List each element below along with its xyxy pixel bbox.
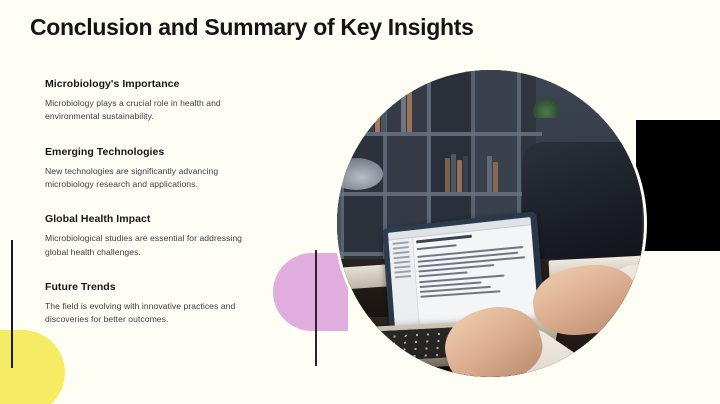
slide-canvas: Conclusion and Summary of Key Insights M…	[0, 0, 720, 404]
book	[363, 88, 368, 132]
book	[357, 92, 362, 132]
book	[463, 156, 468, 192]
insight-heading: Microbiology's Importance	[45, 78, 295, 90]
center-vertical-rule	[315, 250, 317, 366]
book	[445, 158, 450, 192]
insight-body: Microbiological studies are essential fo…	[45, 232, 260, 259]
potted-plant	[533, 98, 559, 118]
book	[493, 162, 498, 192]
document-line	[419, 272, 468, 278]
document-line	[417, 244, 457, 250]
sidebar-line	[392, 241, 409, 245]
insight-heading: Global Health Impact	[45, 213, 295, 225]
book	[375, 90, 380, 132]
sidebar-line	[393, 256, 410, 259]
black-block-decoration	[636, 120, 720, 251]
yellow-blob-decoration	[0, 330, 65, 404]
sidebar-line	[393, 246, 410, 250]
sidebar-line	[394, 270, 411, 273]
sidebar-line	[393, 251, 410, 255]
laptop-office-photo	[337, 70, 644, 377]
page-title: Conclusion and Summary of Key Insights	[30, 14, 474, 41]
insight-body: The field is evolving with innovative pr…	[45, 300, 260, 327]
insight-heading: Future Trends	[45, 281, 295, 293]
book	[381, 94, 386, 132]
book	[407, 88, 412, 132]
book	[369, 96, 374, 132]
book	[401, 94, 406, 132]
left-vertical-rule	[11, 240, 13, 368]
sidebar-line	[395, 275, 412, 278]
insight-item-future-trends: Future Trends The field is evolving with…	[45, 281, 295, 327]
sidebar-line	[394, 265, 411, 268]
sidebar-line	[394, 261, 411, 264]
photo-scene	[337, 70, 644, 377]
insight-heading: Emerging Technologies	[45, 146, 295, 158]
insight-body: Microbiology plays a crucial role in hea…	[45, 97, 260, 124]
book	[487, 156, 492, 192]
insight-body: New technologies are significantly advan…	[45, 165, 260, 192]
book	[413, 98, 418, 132]
shelf-divider	[337, 192, 542, 196]
insights-list: Microbiology's Importance Microbiology p…	[45, 78, 295, 327]
insight-item-emerging-technologies: Emerging Technologies New technologies a…	[45, 146, 295, 192]
insight-item-microbiology-importance: Microbiology's Importance Microbiology p…	[45, 78, 295, 124]
book	[451, 154, 456, 192]
shelf-divider	[337, 132, 542, 136]
document-sidebar	[388, 238, 419, 330]
insight-item-global-health-impact: Global Health Impact Microbiological stu…	[45, 213, 295, 259]
book	[457, 160, 462, 192]
